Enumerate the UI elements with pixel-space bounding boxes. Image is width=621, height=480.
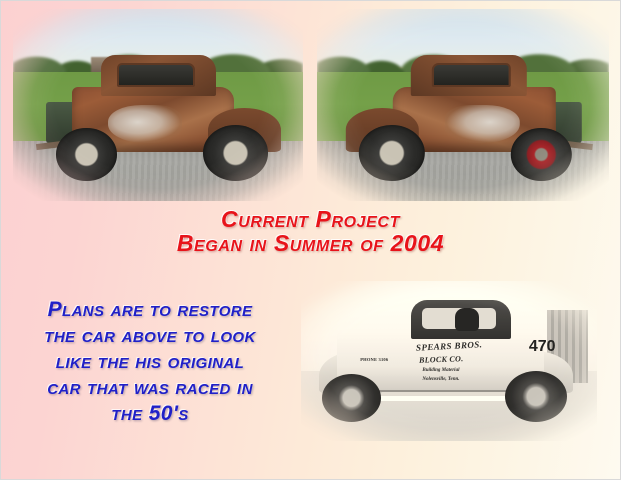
- door-lettering-sponsor-4: Nolensville, Tenn.: [422, 377, 459, 382]
- headline-line-1: Current Project: [1, 206, 620, 233]
- photo-scene: [317, 9, 609, 201]
- photo-vintage-race-coupe: PHONE 3106 SPEARS BROS. BLOCK CO. Buildi…: [301, 281, 597, 441]
- vintage-scene: PHONE 3106 SPEARS BROS. BLOCK CO. Buildi…: [301, 281, 597, 441]
- vintage-rear-wheel: [505, 371, 567, 422]
- slide-canvas: Current Project Began in Summer of 2004 …: [0, 0, 621, 480]
- photo-rusty-coupe-right: [317, 9, 609, 201]
- photo-rusty-coupe-left: [13, 9, 303, 201]
- car-number: 470: [529, 339, 556, 356]
- body-line-1: Plans are to restore: [9, 297, 291, 323]
- headline-line-2: Began in Summer of 2004: [1, 230, 620, 257]
- rear-wheel: [358, 125, 424, 180]
- body-text-block: Plans are to restore the car above to lo…: [9, 297, 291, 427]
- side-window: [117, 63, 195, 88]
- rear-wheel: [203, 125, 268, 180]
- photo-scene: [13, 9, 303, 201]
- body-line-5: the 50's: [9, 401, 291, 427]
- vintage-front-wheel: [322, 374, 381, 422]
- body-line-3: like the his original: [9, 349, 291, 375]
- front-wheel-red: [511, 128, 571, 181]
- door-lettering-phone: PHONE 3106: [360, 358, 388, 363]
- side-window: [432, 63, 511, 88]
- front-wheel: [56, 128, 116, 181]
- body-line-4: car that was raced in: [9, 375, 291, 401]
- driver-silhouette: [455, 308, 479, 330]
- rusty-coupe: [335, 44, 598, 190]
- rusty-coupe: [30, 44, 291, 190]
- door-lettering-sponsor-3: Building Material: [422, 368, 459, 373]
- body-line-2: the car above to look: [9, 323, 291, 349]
